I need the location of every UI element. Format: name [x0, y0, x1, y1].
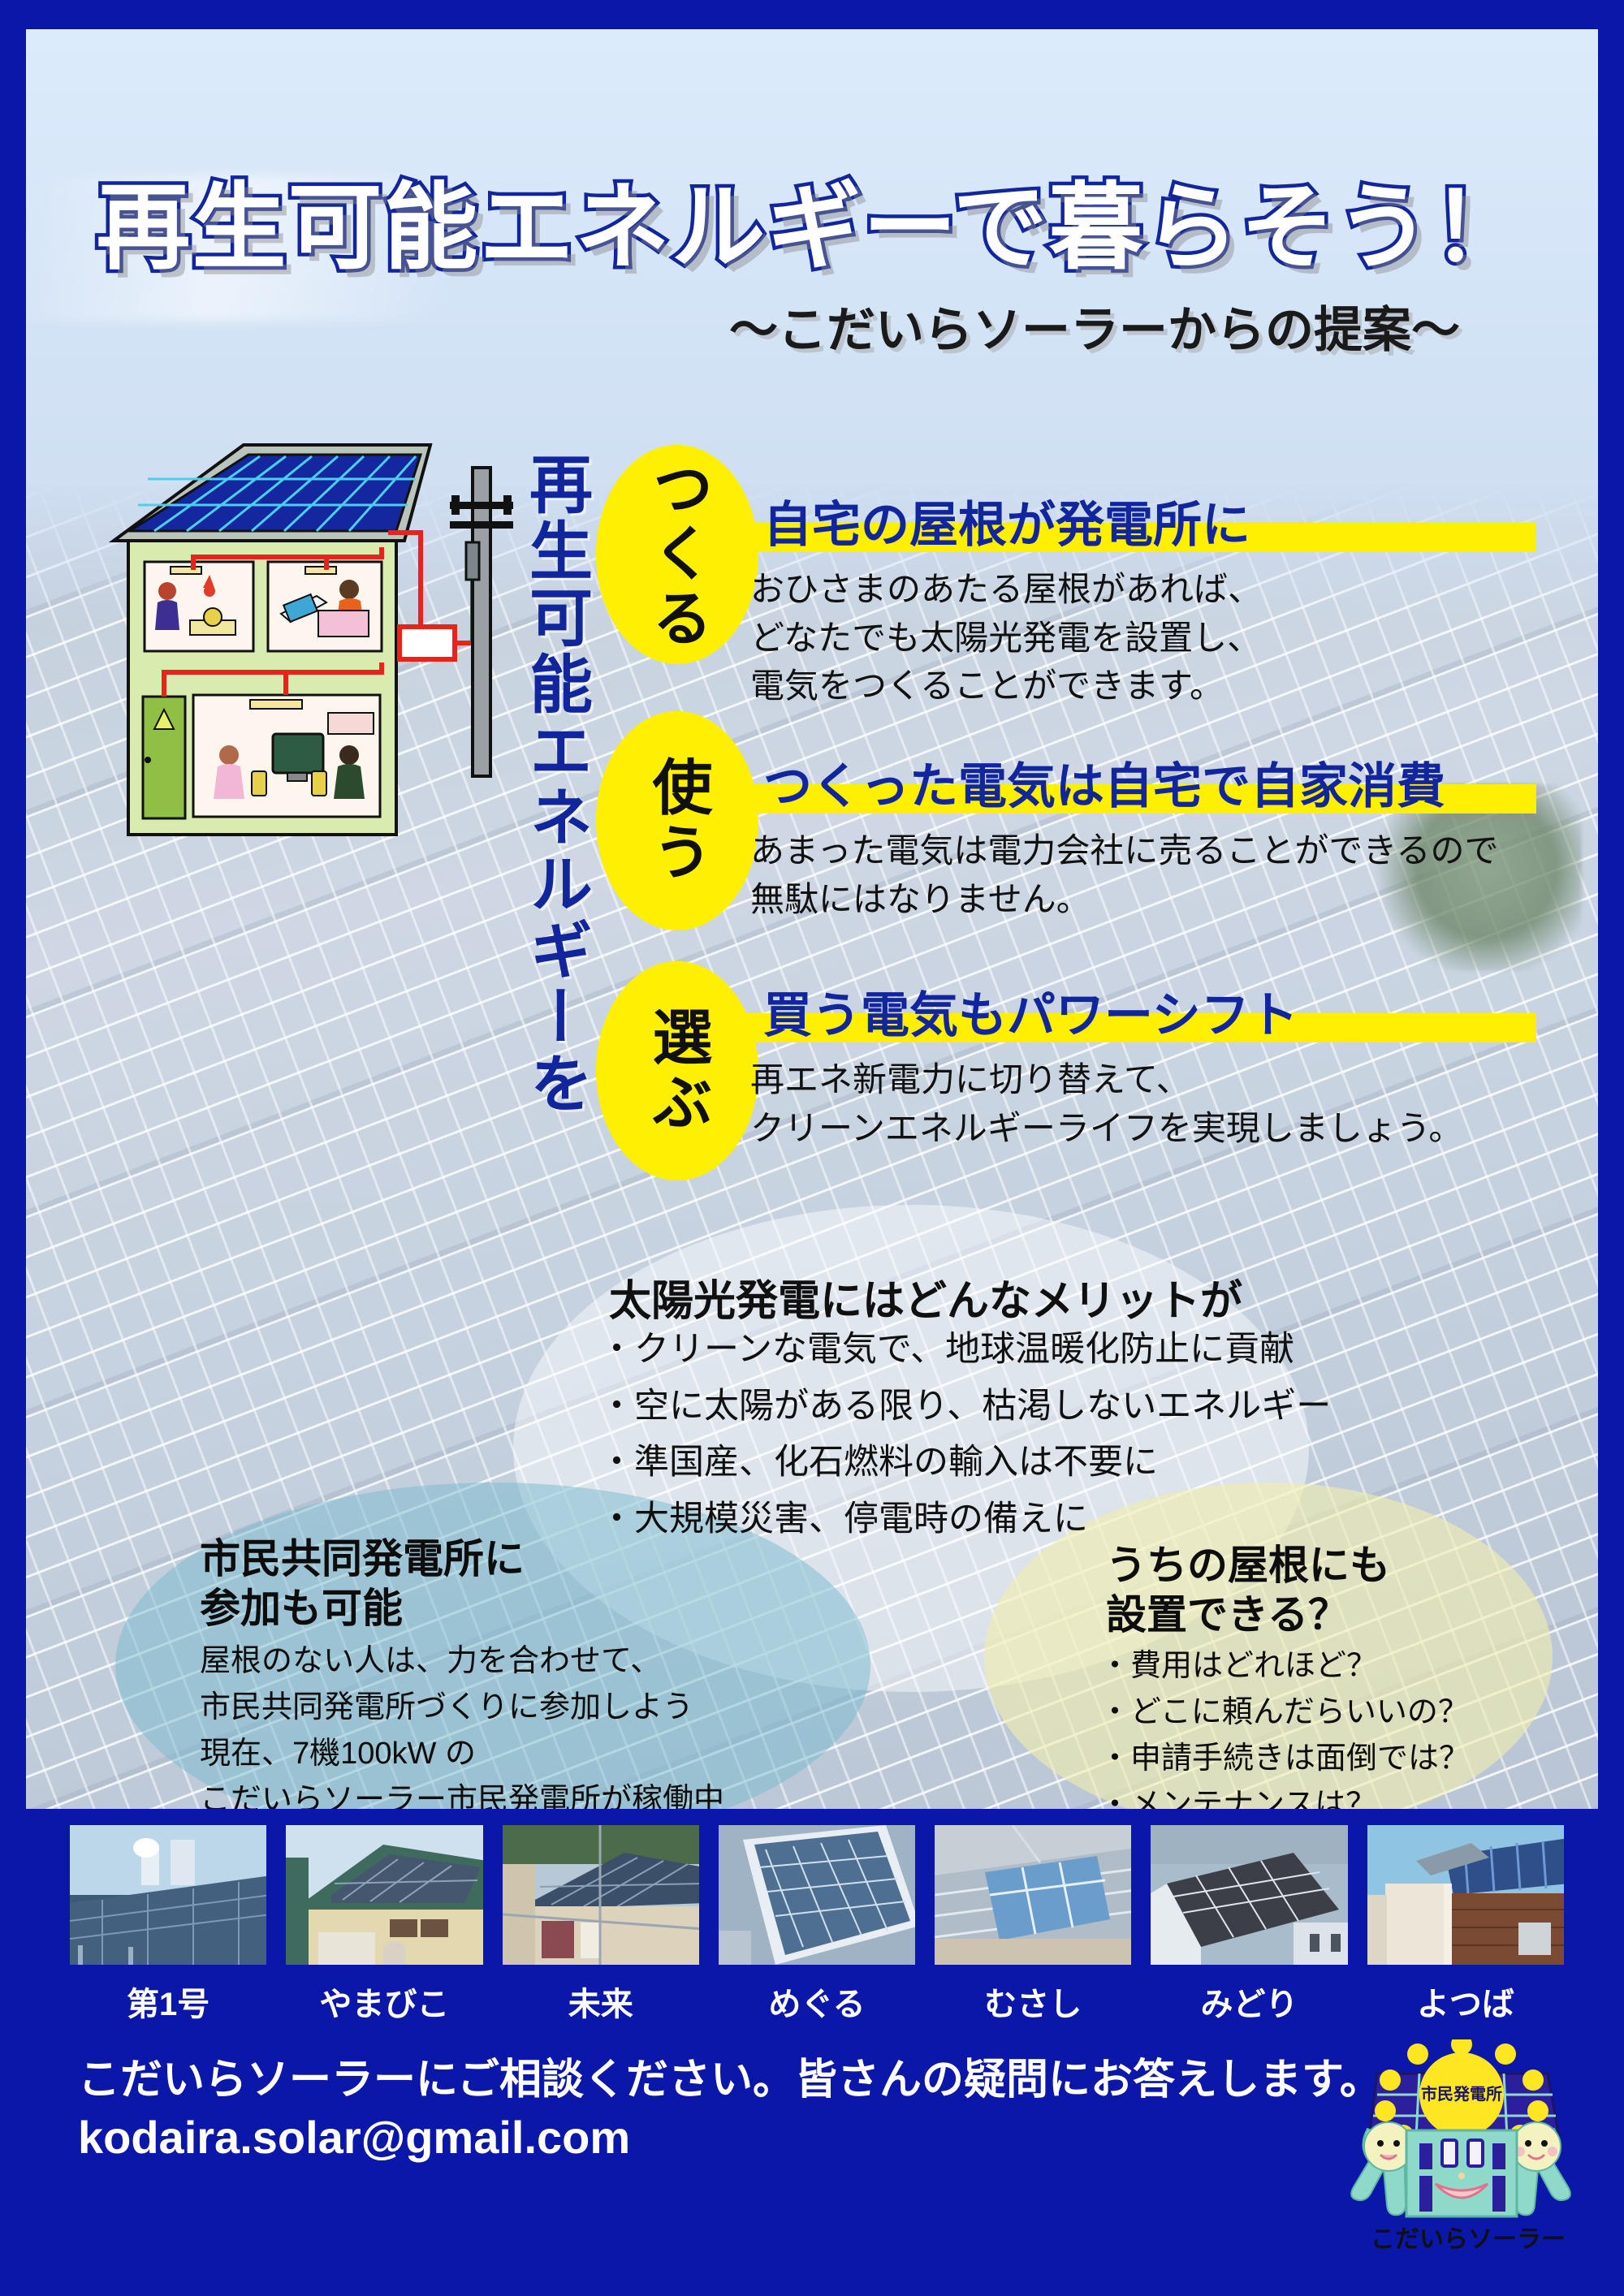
- citizen-plant-heading-line1: 市民共同発電所に: [200, 1534, 525, 1584]
- questions-heading-line2: 設置できる？: [1106, 1590, 1390, 1640]
- house-illustration: [106, 427, 528, 882]
- contact-text: こだいらソーラーにご相談ください。皆さんの疑問にお答えします。: [78, 2052, 1382, 2109]
- merits-list: ・クリーンな電気で、地球温暖化防止に貢献 ・空に太陽がある限り、枯渇しないエネル…: [599, 1322, 1331, 1548]
- step-badge-label: 選ぶ: [647, 1006, 707, 1136]
- step-badge-tsukuru: つくる: [596, 445, 758, 664]
- gallery-caption: よつば: [1367, 1978, 1564, 2025]
- citizen-plant-line: こだいらソーラー市民発電所が稼働中: [200, 1777, 724, 1809]
- gallery-caption: 第1号: [70, 1978, 266, 2025]
- citizen-plant-line: 市民共同発電所づくりに参加しよう: [200, 1685, 724, 1731]
- questions-heading: うちの屋根にも 設置できる？: [1106, 1541, 1390, 1640]
- question-item: ・メンテナンスは？: [1099, 1782, 1470, 1809]
- merit-item: ・準国産、化石燃料の輸入は不要に: [599, 1435, 1331, 1491]
- step-body-3: 再エネ新電力に切り替えて、 クリーンエネルギーライフを実現しましょう。: [750, 1055, 1462, 1152]
- question-item: ・費用はどれほど？: [1099, 1643, 1470, 1690]
- merit-item: ・クリーンな電気で、地球温暖化防止に貢献: [599, 1322, 1331, 1379]
- merits-title: 太陽光発電にはどんなメリットが: [609, 1267, 1242, 1327]
- gallery-photo-2: [286, 1825, 482, 1965]
- step-heading-1: 自宅の屋根が発電所に: [763, 486, 1250, 556]
- step-heading-2: つくった電気は自宅で自家消費: [763, 747, 1445, 818]
- gallery-caption: 未来: [503, 1978, 699, 2025]
- gallery-caption: みどり: [1151, 1978, 1347, 2025]
- step-badge-label: 使う: [647, 756, 707, 886]
- gallery-photo-1: [70, 1825, 266, 1965]
- step-body-line: おひさまのあたる屋根があれば、: [750, 565, 1262, 614]
- gallery-photo-5: [935, 1825, 1131, 1965]
- citizen-plant-line: 屋根のない人は、力を合わせて、: [200, 1638, 724, 1685]
- step-body-line: あまった電気は電力会社に売ることができるので: [750, 826, 1498, 875]
- step-body-line: クリーンエネルギーライフを実現しましょう。: [750, 1104, 1462, 1153]
- question-item: ・どこに頼んだらいいの？: [1099, 1690, 1470, 1736]
- gallery-caption: めぐる: [719, 1978, 915, 2025]
- question-item: ・申請手続きは面倒では？: [1099, 1736, 1470, 1782]
- gallery-photo-3: [503, 1825, 699, 1965]
- gallery-photo-7: [1367, 1825, 1564, 1965]
- step-body-1: おひさまのあたる屋根があれば、 どなたでも太陽光発電を設置し、 電気をつくること…: [750, 565, 1262, 710]
- citizen-plant-body: 屋根のない人は、力を合わせて、 市民共同発電所づくりに参加しよう 現在、7機10…: [200, 1638, 724, 1809]
- merit-item: ・空に太陽がある限り、枯渇しないエネルギー: [599, 1379, 1331, 1435]
- step-body-line: 無駄にはなりません。: [750, 875, 1498, 924]
- citizen-plant-heading: 市民共同発電所に 参加も可能: [200, 1534, 525, 1634]
- step-body-line: 電気をつくることができます。: [750, 662, 1262, 710]
- step-badge-tsukau: 使う: [596, 711, 758, 930]
- step-badge-erabu: 選ぶ: [596, 961, 758, 1180]
- gallery-caption: やまびこ: [286, 1978, 482, 2025]
- logo-sun-label: 市民発電所: [1421, 2084, 1502, 2104]
- gallery-caption: むさし: [935, 1978, 1131, 2025]
- logo-caption: こだいらソーラー: [1371, 2226, 1566, 2253]
- gallery-captions: 第1号 やまびこ 未来 めぐる むさし みどり よつば: [70, 1978, 1564, 2025]
- page-title: 再生可能エネルギーで暮らそう！: [26, 151, 1598, 287]
- step-body-2: あまった電気は電力会社に売ることができるので 無駄にはなりません。: [750, 826, 1498, 923]
- citizen-plant-heading-line2: 参加も可能: [200, 1584, 525, 1634]
- questions-heading-line1: うちの屋根にも: [1106, 1541, 1390, 1590]
- poster-stage: 再生可能エネルギーで暮らそう！ ～こだいらソーラーからの提案～: [26, 29, 1598, 1809]
- gallery-photos: [70, 1825, 1564, 1971]
- step-body-line: 再エネ新電力に切り替えて、: [750, 1055, 1462, 1104]
- gallery-photo-4: [719, 1825, 915, 1965]
- citizen-plant-line: 現在、7機100kW の: [200, 1731, 724, 1777]
- step-heading-3: 買う電気もパワーシフト: [763, 976, 1298, 1047]
- kodaira-solar-logo: 市民発電所: [1338, 2039, 1598, 2283]
- vertical-slogan: 再生可能エネルギーを: [507, 451, 588, 1182]
- contact-email-link[interactable]: kodaira.solar@gmail.com: [78, 2111, 630, 2164]
- logo-svg: 市民発電所: [1338, 2039, 1598, 2283]
- step-badge-label: つくる: [647, 457, 707, 652]
- step-body-line: どなたでも太陽光発電を設置し、: [750, 614, 1262, 662]
- page-subtitle: ～こだいらソーラーからの提案～: [26, 291, 1598, 361]
- footer-strip: 第1号 やまびこ 未来 めぐる むさし みどり よつば こだいらソーラーにご相談…: [0, 1809, 1624, 2296]
- merit-item: ・大規模災害、停電時の備えに: [599, 1491, 1331, 1548]
- poster-root: 再生可能エネルギーで暮らそう！ ～こだいらソーラーからの提案～: [0, 0, 1624, 2296]
- gallery-photo-6: [1151, 1825, 1347, 1965]
- questions-body: ・費用はどれほど？ ・どこに頼んだらいいの？ ・申請手続きは面倒では？ ・メンテ…: [1099, 1643, 1470, 1809]
- house-svg: [106, 427, 528, 882]
